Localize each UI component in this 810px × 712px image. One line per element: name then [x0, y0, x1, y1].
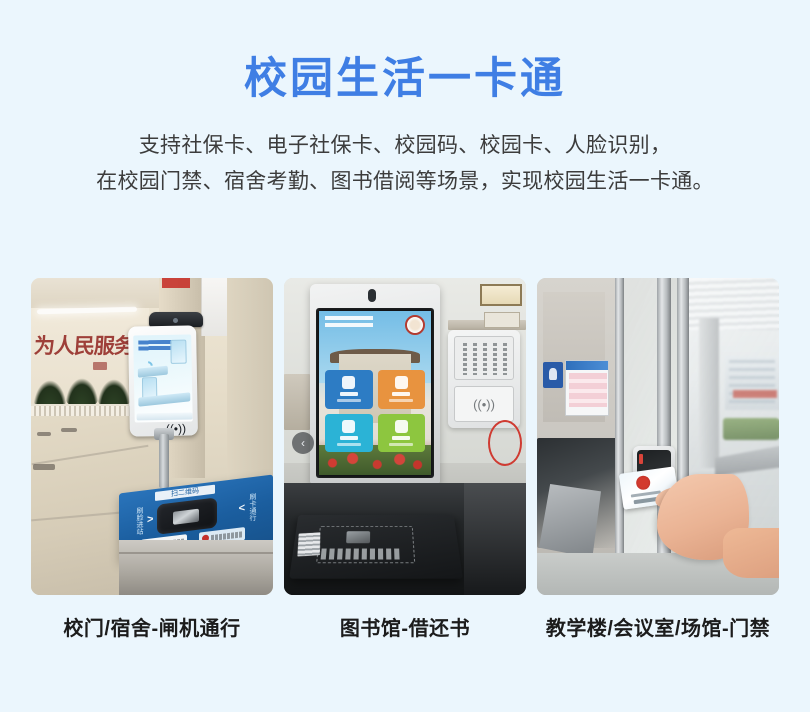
panel-text-column — [483, 343, 487, 375]
floor-slot — [37, 432, 51, 436]
renew-icon — [395, 420, 408, 433]
wall-poster — [565, 360, 609, 416]
panel-text-column — [493, 343, 497, 375]
kiosk-tile-search[interactable] — [325, 414, 373, 453]
photo-door-access[interactable] — [537, 278, 779, 595]
highlight-circle — [488, 420, 522, 466]
screen-dock-bar — [137, 412, 193, 420]
desk-illustration — [138, 366, 168, 378]
wrist — [723, 528, 779, 578]
photo-caption-door: 教学楼/会议室/场馆-门禁 — [546, 612, 770, 641]
subtitle-line-2: 在校园门禁、宿舍考勤、图书借阅等场景，实现校园生活一卡通。 — [0, 164, 810, 200]
page-header: 校园生活一卡通 支持社保卡、电子社保卡、校园码、校园卡、人脸识别， 在校园门禁、… — [0, 0, 810, 200]
panel-instructions — [454, 336, 514, 380]
chevron-left-icon[interactable]: ‹ — [292, 432, 314, 454]
kiosk-menu-tiles — [325, 370, 425, 452]
wall-poster-column — [201, 278, 227, 336]
photo-caption-library: 图书馆-借还书 — [340, 612, 470, 641]
photo-gate-turnstile[interactable]: 为人民服务 — [31, 278, 273, 595]
return-icon — [395, 376, 408, 389]
page-title: 校园生活一卡通 — [0, 54, 810, 106]
panel-text-column — [463, 343, 467, 375]
panel-wifi-box: ((•)) — [454, 386, 514, 422]
terminal-pole — [159, 434, 169, 488]
arrow-left-icon: < — [239, 502, 245, 515]
wall-info-panel: ((•)) — [448, 330, 520, 428]
kiosk-display-bezel — [316, 308, 434, 478]
photo-card-door[interactable]: 教学楼/会议室/场馆-门禁 — [537, 278, 779, 641]
photo-library-kiosk[interactable]: ((•)) ‹ — [284, 278, 526, 595]
glass-door-panel — [623, 278, 659, 595]
self-service-kiosk[interactable] — [310, 284, 440, 484]
door-mullion — [615, 278, 624, 595]
arrow-right-icon: > — [147, 513, 153, 526]
photo-card-gate[interactable]: 为人民服务 — [31, 278, 273, 641]
floor-slot — [33, 464, 55, 470]
stacked-books — [297, 532, 320, 556]
indoor-counter-top — [539, 484, 601, 558]
face-recognition-terminal[interactable]: ((•)) — [128, 325, 198, 436]
kiosk-tile-renew[interactable] — [378, 414, 426, 453]
photo-card-library[interactable]: ((•)) ‹ 图书馆-借还书 — [284, 278, 526, 641]
screen-title-text — [325, 316, 373, 328]
tile-sublabel — [337, 443, 361, 446]
tile-label — [340, 436, 358, 440]
photo-caption-gate: 校门/宿舍-闸机通行 — [63, 612, 240, 641]
poster-body — [569, 373, 607, 407]
planter-rail — [31, 404, 143, 416]
tile-sublabel — [389, 399, 413, 402]
panel-text-column — [503, 343, 507, 375]
wall-calligraphy-text: 为人民服务 — [33, 330, 131, 360]
search-icon — [342, 420, 355, 433]
tile-label — [392, 436, 410, 440]
qr-code-scanner[interactable] — [157, 497, 217, 534]
restroom-sign-icon — [543, 362, 563, 388]
subtitle-line-1: 支持社保卡、电子社保卡、校园码、校园卡、人脸识别， — [0, 128, 810, 164]
promo-page: 校园生活一卡通 支持社保卡、电子社保卡、校园码、校园卡、人脸识别， 在校园门禁、… — [0, 0, 810, 712]
national-emblem-icon — [635, 475, 651, 491]
wall-picture-frame — [480, 284, 522, 306]
turnstile-base — [119, 540, 273, 595]
page-subtitle: 支持社保卡、电子社保卡、校园码、校园卡、人脸识别， 在校园门禁、宿舍考勤、图书借… — [0, 128, 810, 200]
status-led-icon — [639, 454, 643, 464]
terminal-screen[interactable] — [133, 335, 193, 423]
tile-sublabel — [389, 443, 413, 446]
kiosk-camera-icon — [368, 289, 376, 302]
wall-notice — [484, 312, 520, 328]
tile-sublabel — [337, 399, 361, 402]
screen-headline — [138, 340, 172, 352]
wifi-icon: ((•)) — [473, 397, 495, 412]
photo-gallery: 为人民服务 — [31, 278, 779, 641]
red-banner-strip — [162, 278, 190, 288]
book-icon — [342, 376, 355, 389]
desk-side-module — [464, 483, 526, 595]
turnstile-right-label: 刷卡通行 — [248, 493, 257, 524]
book-icon — [346, 531, 370, 543]
panel-text-column — [473, 343, 477, 375]
floor-slot — [61, 428, 77, 432]
poster-header — [566, 361, 608, 370]
calligraphy-seal — [93, 362, 107, 370]
library-shelf — [284, 374, 310, 430]
kiosk-tile-return[interactable] — [378, 370, 426, 409]
tile-label — [340, 392, 358, 396]
kiosk-touchscreen[interactable] — [319, 311, 431, 475]
turnstile-left-label: 刷脸进站 — [135, 506, 144, 537]
phone-illustration-icon — [170, 340, 186, 364]
kiosk-tile-borrow[interactable] — [325, 370, 373, 409]
book-placement-surface[interactable] — [289, 515, 463, 579]
tray-label-text — [321, 549, 401, 560]
tile-label — [392, 392, 410, 396]
school-logo-icon — [405, 315, 425, 335]
